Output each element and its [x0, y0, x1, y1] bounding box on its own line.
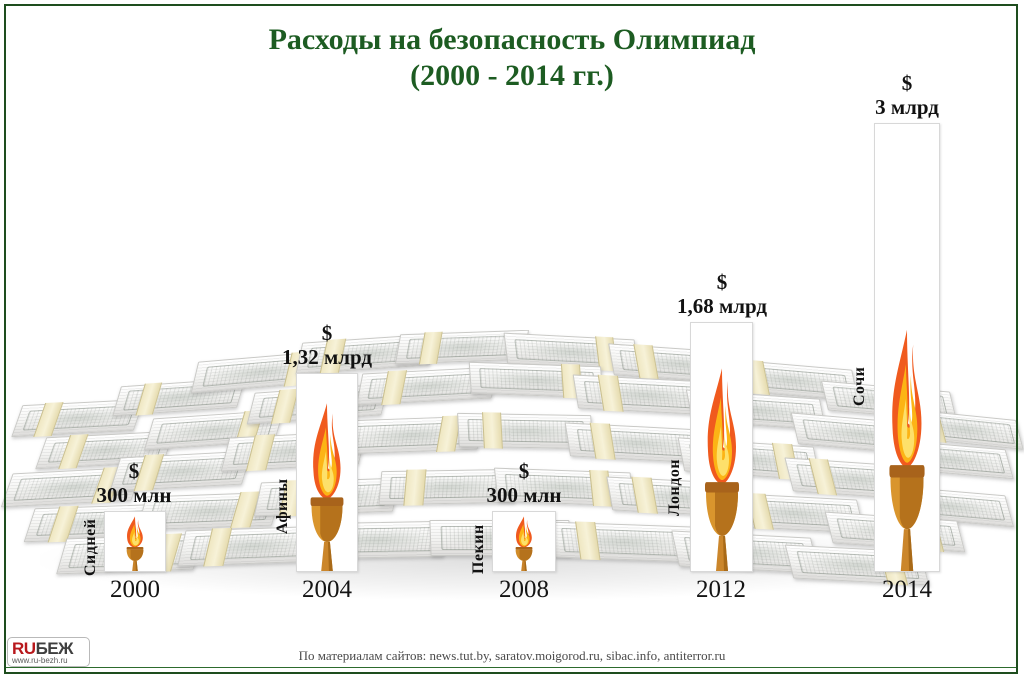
currency-symbol: $: [632, 270, 812, 294]
bar-2004[interactable]: [296, 373, 358, 572]
bar-amount: 300 млн: [487, 483, 562, 507]
bar-city-2008: Пекин: [470, 496, 488, 574]
bar-chart: $ 300 млн Сидней 2000: [0, 0, 1024, 680]
bar-2014[interactable]: [874, 123, 940, 572]
bar-year-2008: 2008: [464, 576, 584, 604]
bar-value-2000: $ 300 млн: [44, 459, 224, 507]
bar-amount: 3 млрд: [875, 95, 939, 119]
olympic-torch-icon: [507, 513, 541, 571]
bar-2000[interactable]: [104, 511, 166, 572]
bar-value-2008: $ 300 млн: [434, 459, 614, 507]
bar-value-2012: $ 1,68 млрд: [632, 270, 812, 318]
currency-symbol: $: [434, 459, 614, 483]
rubezh-logo[interactable]: RUБЕЖ www.ru-bezh.ru: [7, 637, 90, 667]
bar-city-2004: Афины: [274, 422, 292, 534]
chart-title: Расходы на безопасность Олимпиад (2000 -…: [0, 22, 1024, 94]
bar-year-2012: 2012: [661, 576, 781, 604]
bar-value-2004: $ 1,32 млрд: [237, 321, 417, 369]
currency-symbol: $: [44, 459, 224, 483]
bar-city-2000: Сидней: [82, 490, 100, 576]
currency-symbol: $: [237, 321, 417, 345]
source-credit: По материалам сайтов: news.tut.by, sarat…: [0, 648, 1024, 664]
bar-2012[interactable]: [690, 322, 753, 572]
bar-year-2014: 2014: [847, 576, 967, 604]
infographic-page: Расходы на безопасность Олимпиад (2000 -…: [0, 0, 1024, 680]
bar-amount: 1,68 млрд: [677, 294, 767, 318]
bar-2008[interactable]: [492, 511, 556, 572]
bar-amount: 1,32 млрд: [282, 345, 372, 369]
olympic-torch-icon: [876, 315, 938, 571]
olympic-torch-icon: [692, 356, 752, 571]
bar-year-2004: 2004: [267, 576, 387, 604]
logo-url: www.ru-bezh.ru: [12, 656, 68, 666]
title-line-2: (2000 - 2014 гг.): [0, 58, 1024, 94]
title-line-1: Расходы на безопасность Олимпиад: [269, 23, 756, 56]
bar-city-2012: Лондон: [666, 404, 684, 516]
bar-city-2014: Сочи: [851, 326, 869, 406]
bar-amount: 300 млн: [97, 483, 172, 507]
olympic-torch-icon: [118, 513, 152, 571]
bar-year-2000: 2000: [75, 576, 195, 604]
olympic-torch-icon: [298, 393, 356, 571]
footer-divider: [6, 667, 1016, 668]
